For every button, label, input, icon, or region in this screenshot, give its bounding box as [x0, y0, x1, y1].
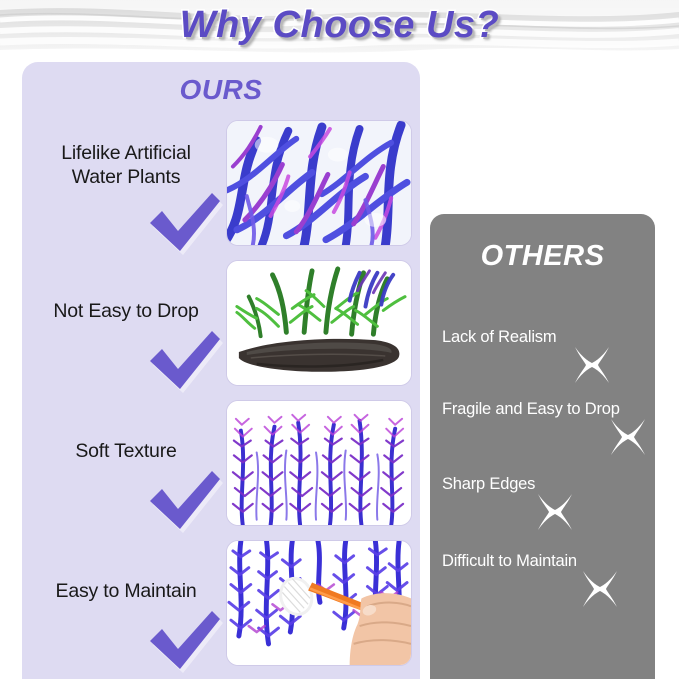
ours-feature-label-line1: Lifelike Artificial	[61, 142, 191, 164]
blue-purple-artificial-water-plants-photo	[227, 121, 411, 246]
ours-heading: OURS	[22, 74, 420, 106]
x-icon	[608, 417, 648, 457]
ours-row: Not Easy to Drop	[22, 255, 420, 395]
ours-row: Soft Texture	[22, 395, 420, 535]
hand-brushing-plants-with-orange-brush-photo	[227, 541, 411, 666]
others-heading: OTHERS	[430, 240, 655, 273]
check-icon	[146, 611, 224, 673]
check-icon	[146, 331, 224, 393]
comparison-infographic: Why Choose Us? OURS Lifelike Artificial …	[0, 0, 679, 679]
others-panel: OTHERS Lack of Realism Fragile and Easy …	[430, 214, 655, 679]
x-icon	[580, 569, 620, 609]
header-banner: Why Choose Us?	[0, 0, 679, 66]
check-icon	[146, 193, 224, 255]
ours-row: Lifelike Artificial Water Plants	[22, 115, 420, 255]
others-drawback-label: Fragile and Easy to Drop	[442, 399, 652, 419]
ours-feature-label: Lifelike Artificial Water Plants	[30, 141, 222, 189]
ours-feature-label-line2: Water Plants	[72, 166, 181, 188]
page-title: Why Choose Us?	[0, 4, 679, 47]
ours-feature-label: Not Easy to Drop	[30, 299, 222, 323]
ours-row: Easy to Maintain	[22, 535, 420, 675]
ours-panel: OURS Lifelike Artificial Water Plants	[22, 62, 420, 679]
ours-feature-label: Easy to Maintain	[30, 579, 222, 603]
ours-feature-image	[226, 120, 412, 246]
ours-feature-image	[226, 540, 412, 666]
others-drawback-label: Sharp Edges	[442, 474, 652, 494]
ours-feature-label: Soft Texture	[30, 439, 222, 463]
purple-feathery-soft-plants-photo	[227, 401, 411, 526]
ours-feature-image	[226, 400, 412, 526]
others-drawback-label: Lack of Realism	[442, 327, 652, 347]
check-icon	[146, 471, 224, 533]
others-drawback-label: Difficult to Maintain	[442, 551, 652, 571]
x-icon	[572, 345, 612, 385]
green-plants-on-driftwood-base-photo	[227, 261, 411, 386]
ours-feature-image	[226, 260, 412, 386]
x-icon	[535, 492, 575, 532]
